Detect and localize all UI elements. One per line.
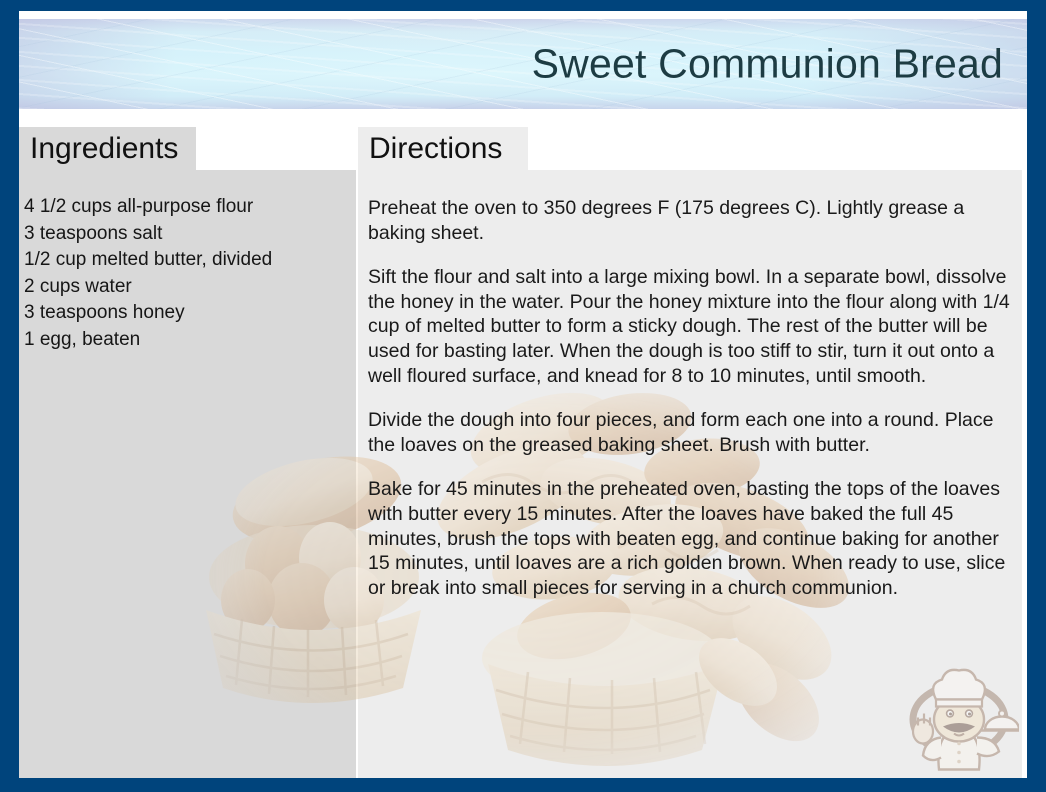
directions-paragraph: Sift the flour and salt into a large mix… xyxy=(368,265,1018,388)
recipe-card-frame: Sweet Communion Bread Ingredients Direct… xyxy=(0,0,1046,792)
list-item: 1/2 cup melted butter, divided xyxy=(24,247,344,274)
tab-directions[interactable]: Directions xyxy=(358,127,528,170)
directions-paragraph: Preheat the oven to 350 degrees F (175 d… xyxy=(368,196,1018,245)
list-item: 4 1/2 cups all-purpose flour xyxy=(24,194,344,221)
directions-paragraph: Bake for 45 minutes in the preheated ove… xyxy=(368,477,1018,600)
tab-ingredients[interactable]: Ingredients xyxy=(19,127,196,170)
list-item: 1 egg, beaten xyxy=(24,327,344,354)
ingredients-list: 4 1/2 cups all-purpose flour 3 teaspoons… xyxy=(24,194,344,353)
list-item: 3 teaspoons salt xyxy=(24,221,344,248)
page-title: Sweet Communion Bread xyxy=(532,41,1003,88)
list-item: 2 cups water xyxy=(24,274,344,301)
list-item: 3 teaspoons honey xyxy=(24,300,344,327)
title-banner: Sweet Communion Bread xyxy=(19,19,1027,109)
directions-paragraph: Divide the dough into four pieces, and f… xyxy=(368,408,1018,457)
directions-text: Preheat the oven to 350 degrees F (175 d… xyxy=(368,196,1018,600)
